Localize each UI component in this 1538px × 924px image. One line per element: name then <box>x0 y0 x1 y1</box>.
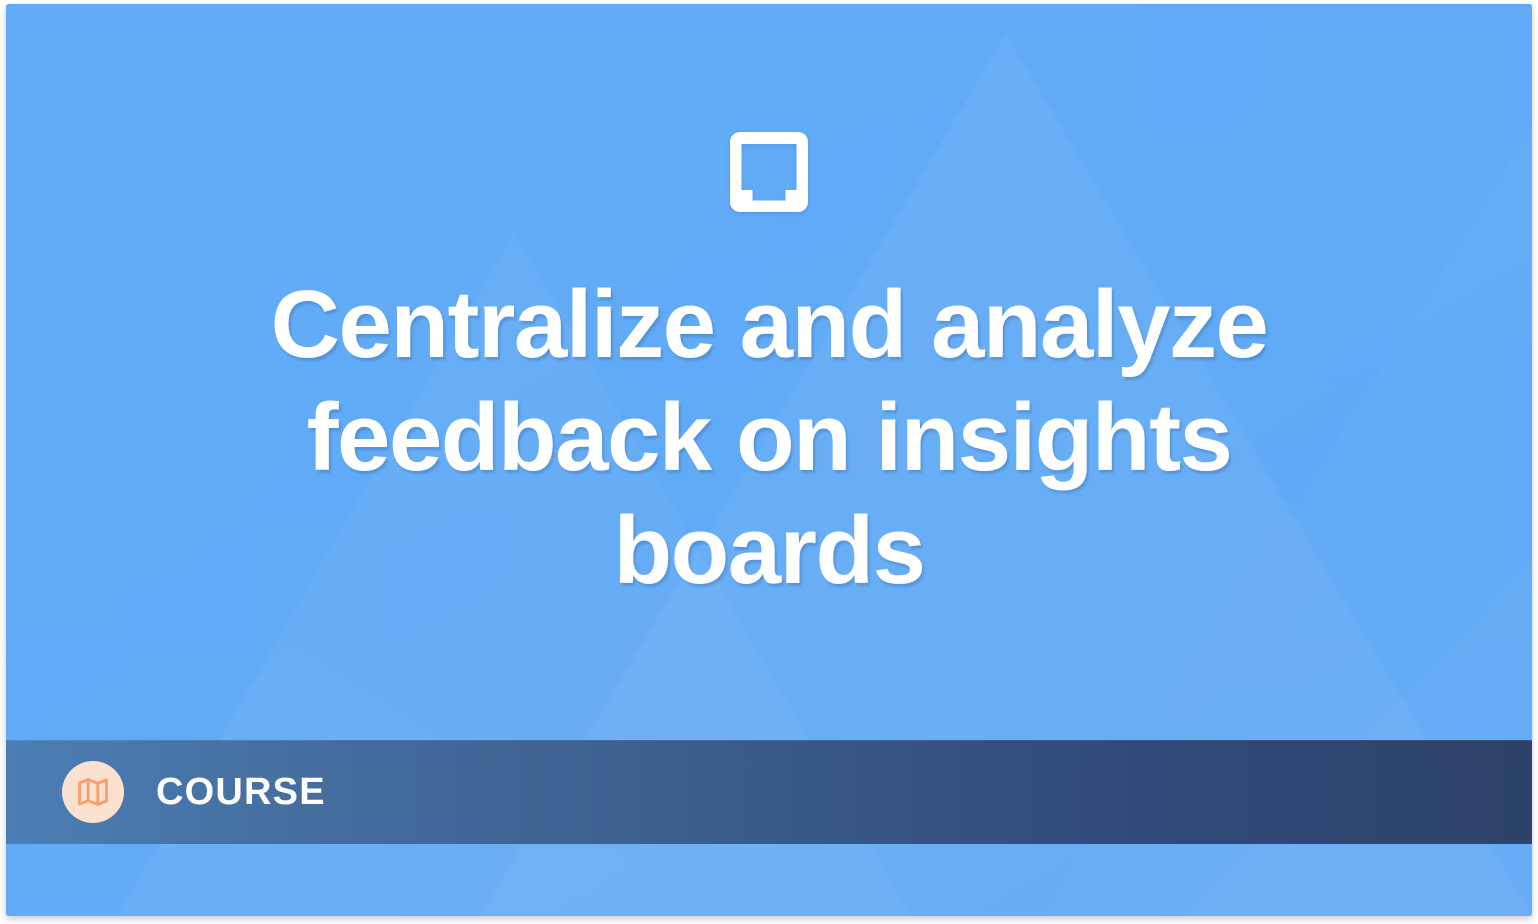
map-icon <box>62 761 124 823</box>
page-title: Centralize and analyze feedback on insig… <box>199 268 1339 607</box>
course-footer-bar[interactable]: COURSE <box>6 740 1532 844</box>
status-badge: COURSE <box>156 773 326 811</box>
course-card[interactable]: Centralize and analyze feedback on insig… <box>6 4 1532 916</box>
network-port-icon <box>730 132 808 212</box>
hero-section: Centralize and analyze feedback on insig… <box>6 4 1532 740</box>
